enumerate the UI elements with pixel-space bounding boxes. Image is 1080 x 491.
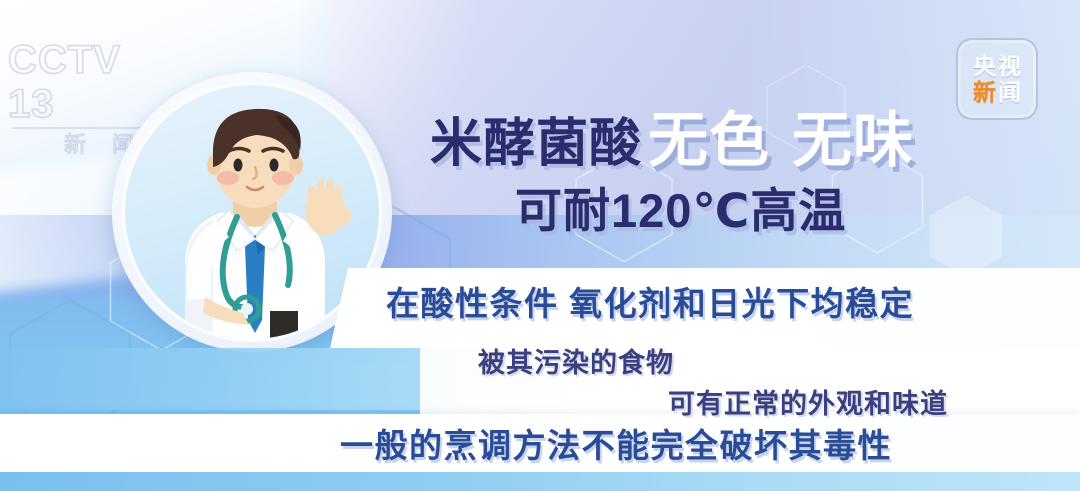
headline-line-2: 可耐120℃高温 [515, 185, 1050, 237]
fact-line-contaminated-food: 被其污染的食物 [478, 347, 674, 379]
headline-attr-colorless: 无色 [648, 107, 770, 174]
cctv-news-logo: 央 视 新 闻 [956, 38, 1038, 120]
headline-line-1: 米酵菌酸无色无味 [430, 112, 1050, 173]
headline-attr-odorless: 无味 [792, 107, 914, 174]
cctv-news-glyph-wen: 闻 [998, 81, 1021, 104]
cctv-news-glyph-xin: 新 [973, 81, 996, 104]
cctv-news-glyph-shi: 视 [998, 55, 1021, 78]
cctv-news-glyph-yang: 央 [973, 55, 996, 78]
cctv-news-logo-row1: 央 视 [973, 55, 1021, 78]
content-panel-footer-bar [0, 472, 1080, 491]
headline-subject: 米酵菌酸 [430, 115, 642, 173]
fact-line-cooking-ineffective: 一般的烹调方法不能完全破坏其毒性 [340, 427, 892, 465]
fact-line-stability: 在酸性条件 氧化剂和日光下均稳定 [386, 285, 914, 323]
headline-block: 米酵菌酸无色无味 可耐120℃高温 [430, 112, 1050, 237]
infographic-slide: CCTV 13 新 闻 央 视 新 闻 [0, 0, 1080, 491]
cctv-news-logo-row2: 新 闻 [973, 81, 1021, 104]
fact-line-normal-appearance: 可有正常的外观和味道 [668, 388, 948, 420]
